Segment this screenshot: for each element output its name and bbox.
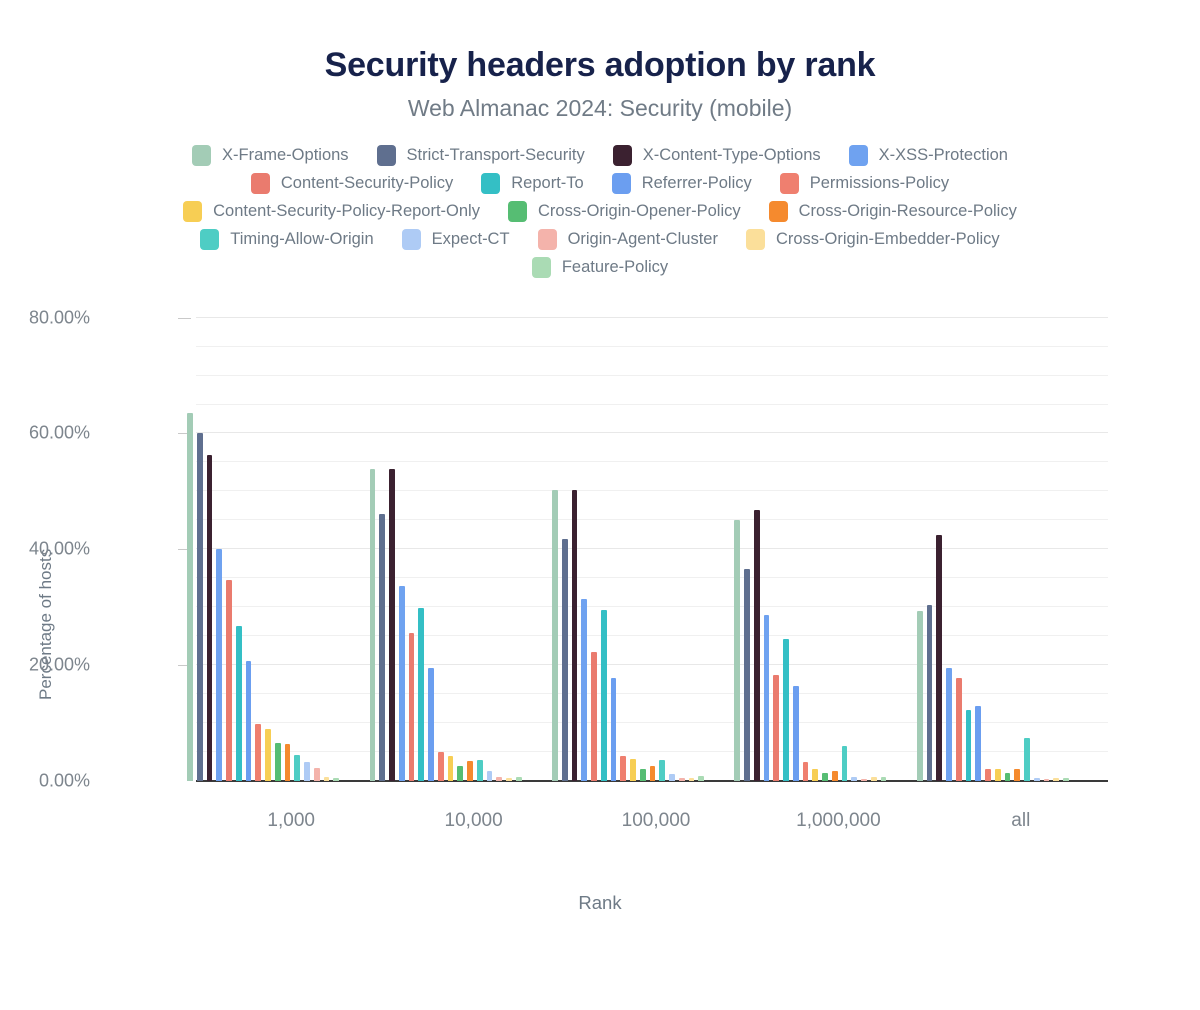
legend-swatch-icon <box>780 173 799 194</box>
bar[interactable] <box>946 668 952 781</box>
bar[interactable] <box>679 778 685 781</box>
bar[interactable] <box>304 762 310 781</box>
legend-swatch-icon <box>183 201 202 222</box>
bar[interactable] <box>734 520 740 780</box>
plot-area: 0.00%20.00%40.00%60.00%80.00%1,00010,000… <box>196 318 1108 781</box>
legend-swatch-icon <box>481 173 500 194</box>
bar[interactable] <box>1005 773 1011 781</box>
legend-item-x-content-type-options[interactable]: X-Content-Type-Options <box>613 145 821 166</box>
y-axis-title: Percentage of hosts <box>36 548 56 699</box>
chart-legend: X-Frame-OptionsStrict-Transport-Security… <box>0 145 1200 278</box>
bar[interactable] <box>399 586 405 781</box>
bar[interactable] <box>754 510 760 781</box>
bar[interactable] <box>793 686 799 781</box>
bar[interactable] <box>552 490 558 781</box>
bar[interactable] <box>995 769 1001 781</box>
legend-swatch-icon <box>508 201 527 222</box>
bar[interactable] <box>698 776 704 781</box>
y-axis-tick-label: 80.00% <box>0 307 90 328</box>
bar[interactable] <box>956 678 962 781</box>
bar[interactable] <box>457 766 463 781</box>
bar[interactable] <box>764 615 770 781</box>
bar[interactable] <box>448 756 454 780</box>
bar[interactable] <box>487 771 493 781</box>
legend-item-cross-origin-embedder-policy[interactable]: Cross-Origin-Embedder-Policy <box>746 229 1000 250</box>
legend-label: Referrer-Policy <box>642 175 752 192</box>
bar[interactable] <box>467 761 473 781</box>
bar[interactable] <box>418 608 424 781</box>
legend-swatch-icon <box>532 257 551 278</box>
legend-item-x-xss-protection[interactable]: X-XSS-Protection <box>849 145 1008 166</box>
bar[interactable] <box>1044 779 1050 781</box>
bar[interactable] <box>246 661 252 780</box>
legend-item-content-security-policy[interactable]: Content-Security-Policy <box>251 173 453 194</box>
bar[interactable] <box>803 762 809 781</box>
bar[interactable] <box>650 766 656 780</box>
y-axis-tick-label: 60.00% <box>0 423 90 444</box>
legend-swatch-icon <box>769 201 788 222</box>
bar[interactable] <box>197 433 203 781</box>
bar[interactable] <box>324 777 330 781</box>
bar[interactable] <box>428 668 434 780</box>
legend-swatch-icon <box>613 145 632 166</box>
legend-swatch-icon <box>849 145 868 166</box>
legend-item-origin-agent-cluster[interactable]: Origin-Agent-Cluster <box>538 229 718 250</box>
bar[interactable] <box>611 678 617 780</box>
bar[interactable] <box>822 773 828 781</box>
bar[interactable] <box>640 769 646 781</box>
legend-row: Content-Security-PolicyReport-ToReferrer… <box>40 173 1160 194</box>
bar[interactable] <box>1053 778 1059 780</box>
legend-item-report-to[interactable]: Report-To <box>481 173 583 194</box>
legend-item-cross-origin-opener-policy[interactable]: Cross-Origin-Opener-Policy <box>508 201 741 222</box>
legend-label: Permissions-Policy <box>810 175 949 192</box>
chart-container: Security headers adoption by rank Web Al… <box>0 0 1200 1010</box>
bar[interactable] <box>370 469 376 780</box>
bar[interactable] <box>379 514 385 781</box>
bar[interactable] <box>496 777 502 781</box>
bar[interactable] <box>236 626 242 781</box>
chart-title: Security headers adoption by rank <box>0 0 1200 85</box>
bar[interactable] <box>409 633 415 781</box>
bar[interactable] <box>314 768 320 781</box>
bar-group-1000000 <box>734 318 890 781</box>
bar[interactable] <box>294 755 300 780</box>
legend-swatch-icon <box>251 173 270 194</box>
bar[interactable] <box>842 746 848 781</box>
legend-swatch-icon <box>402 229 421 250</box>
legend-label: Content-Security-Policy <box>281 175 453 192</box>
legend-swatch-icon <box>377 145 396 166</box>
bar[interactable] <box>438 752 444 781</box>
bar[interactable] <box>669 774 675 780</box>
bar[interactable] <box>333 778 339 780</box>
legend-label: X-Content-Type-Options <box>643 147 821 164</box>
bar[interactable] <box>917 611 923 781</box>
bar[interactable] <box>966 710 972 781</box>
bar[interactable] <box>389 469 395 780</box>
bar[interactable] <box>1063 778 1069 780</box>
bar[interactable] <box>783 639 789 781</box>
bar[interactable] <box>936 535 942 781</box>
bar-group-100000 <box>552 318 708 781</box>
bar[interactable] <box>689 778 695 781</box>
legend-swatch-icon <box>746 229 765 250</box>
legend-label: X-Frame-Options <box>222 147 349 164</box>
bar[interactable] <box>506 778 512 781</box>
legend-swatch-icon <box>200 229 219 250</box>
bar[interactable] <box>216 549 222 781</box>
bar[interactable] <box>851 777 857 780</box>
x-axis-tick-label: 100,000 <box>622 810 691 832</box>
bar[interactable] <box>275 743 281 781</box>
legend-label: Origin-Agent-Cluster <box>568 231 718 248</box>
bar[interactable] <box>255 724 261 781</box>
legend-row: Content-Security-Policy-Report-OnlyCross… <box>40 201 1160 222</box>
legend-item-cross-origin-resource-policy[interactable]: Cross-Origin-Resource-Policy <box>769 201 1017 222</box>
chart-subtitle: Web Almanac 2024: Security (mobile) <box>0 85 1200 123</box>
legend-row: Timing-Allow-OriginExpect-CTOrigin-Agent… <box>40 229 1160 250</box>
bar[interactable] <box>812 769 818 781</box>
bar[interactable] <box>1034 778 1040 780</box>
bar[interactable] <box>975 706 981 781</box>
y-axis-tick-label: 20.00% <box>0 654 90 675</box>
legend-item-content-security-policy-report-only[interactable]: Content-Security-Policy-Report-Only <box>183 201 480 222</box>
bar[interactable] <box>477 760 483 780</box>
x-axis-tick-label: 10,000 <box>445 810 503 832</box>
x-axis-title: Rank <box>0 892 1200 914</box>
legend-item-strict-transport-security[interactable]: Strict-Transport-Security <box>377 145 585 166</box>
legend-swatch-icon <box>538 229 557 250</box>
y-axis-tick-label: 40.00% <box>0 539 90 560</box>
legend-item-expect-ct[interactable]: Expect-CT <box>402 229 510 250</box>
legend-item-referrer-policy[interactable]: Referrer-Policy <box>612 173 752 194</box>
x-axis-tick-label: 1,000,000 <box>796 810 881 832</box>
legend-label: Report-To <box>511 175 583 192</box>
legend-swatch-icon <box>612 173 631 194</box>
bar[interactable] <box>620 756 626 781</box>
legend-label: Cross-Origin-Opener-Policy <box>538 203 741 220</box>
legend-row: Feature-Policy <box>40 257 1160 278</box>
bar-group-all <box>917 318 1073 781</box>
legend-label: Content-Security-Policy-Report-Only <box>213 203 480 220</box>
bar[interactable] <box>207 455 213 780</box>
legend-swatch-icon <box>192 145 211 166</box>
bar[interactable] <box>581 599 587 781</box>
legend-label: X-XSS-Protection <box>879 147 1008 164</box>
legend-label: Cross-Origin-Resource-Policy <box>799 203 1017 220</box>
bar[interactable] <box>630 759 636 781</box>
bar[interactable] <box>871 777 877 780</box>
plot-wrapper: Percentage of hosts 0.00%20.00%40.00%60.… <box>0 300 1200 860</box>
legend-label: Feature-Policy <box>562 259 668 276</box>
legend-label: Cross-Origin-Embedder-Policy <box>776 231 1000 248</box>
bar[interactable] <box>285 744 291 780</box>
legend-label: Expect-CT <box>432 231 510 248</box>
bar[interactable] <box>832 771 838 781</box>
bar[interactable] <box>591 652 597 781</box>
legend-label: Timing-Allow-Origin <box>230 231 373 248</box>
bar[interactable] <box>601 610 607 781</box>
bar[interactable] <box>226 580 232 780</box>
bar[interactable] <box>985 769 991 781</box>
bar[interactable] <box>861 779 867 781</box>
bar[interactable] <box>1024 738 1030 781</box>
bar[interactable] <box>516 777 522 781</box>
x-axis-tick-label: 1,000 <box>267 810 315 832</box>
bar[interactable] <box>927 605 933 780</box>
x-axis-tick-label: all <box>1011 810 1030 832</box>
bar-group-10000 <box>370 318 526 781</box>
legend-label: Strict-Transport-Security <box>407 147 585 164</box>
legend-item-x-frame-options[interactable]: X-Frame-Options <box>192 145 349 166</box>
legend-item-timing-allow-origin[interactable]: Timing-Allow-Origin <box>200 229 373 250</box>
legend-item-feature-policy[interactable]: Feature-Policy <box>532 257 668 278</box>
legend-row: X-Frame-OptionsStrict-Transport-Security… <box>40 145 1160 166</box>
legend-item-permissions-policy[interactable]: Permissions-Policy <box>780 173 949 194</box>
bar[interactable] <box>773 675 779 780</box>
bar-group-1000 <box>187 318 343 781</box>
bar[interactable] <box>881 777 887 781</box>
bar[interactable] <box>659 760 665 781</box>
bar[interactable] <box>744 569 750 780</box>
bar[interactable] <box>265 729 271 781</box>
bar[interactable] <box>562 539 568 780</box>
bar[interactable] <box>1014 769 1020 781</box>
y-axis-tick-label: 0.00% <box>0 770 90 791</box>
bar[interactable] <box>187 413 193 781</box>
bar[interactable] <box>572 490 578 781</box>
